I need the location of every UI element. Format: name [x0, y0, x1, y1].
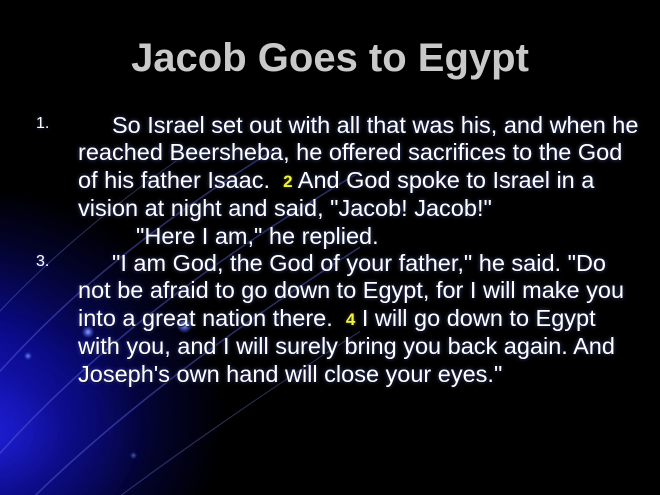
bullet-sub-line: "Here I am," he replied.	[78, 223, 642, 250]
list-marker: 1.	[36, 116, 49, 132]
slide-body: 1. So Israel set out with all that was h…	[0, 112, 660, 388]
list-marker: 3.	[36, 254, 49, 270]
bullet-paragraph: So Israel set out with all that was his,…	[78, 112, 642, 223]
bullet-paragraph: "I am God, the God of your father," he s…	[78, 250, 642, 388]
list-item: 3. "I am God, the God of your father," h…	[0, 250, 660, 388]
verse-number: 2	[283, 172, 292, 191]
list-item: 1. So Israel set out with all that was h…	[0, 112, 660, 250]
presentation-slide: Jacob Goes to Egypt 1. So Israel set out…	[0, 0, 660, 495]
light-dot-icon	[130, 452, 137, 459]
verse-number: 4	[346, 310, 355, 329]
slide-title: Jacob Goes to Egypt	[0, 36, 660, 81]
